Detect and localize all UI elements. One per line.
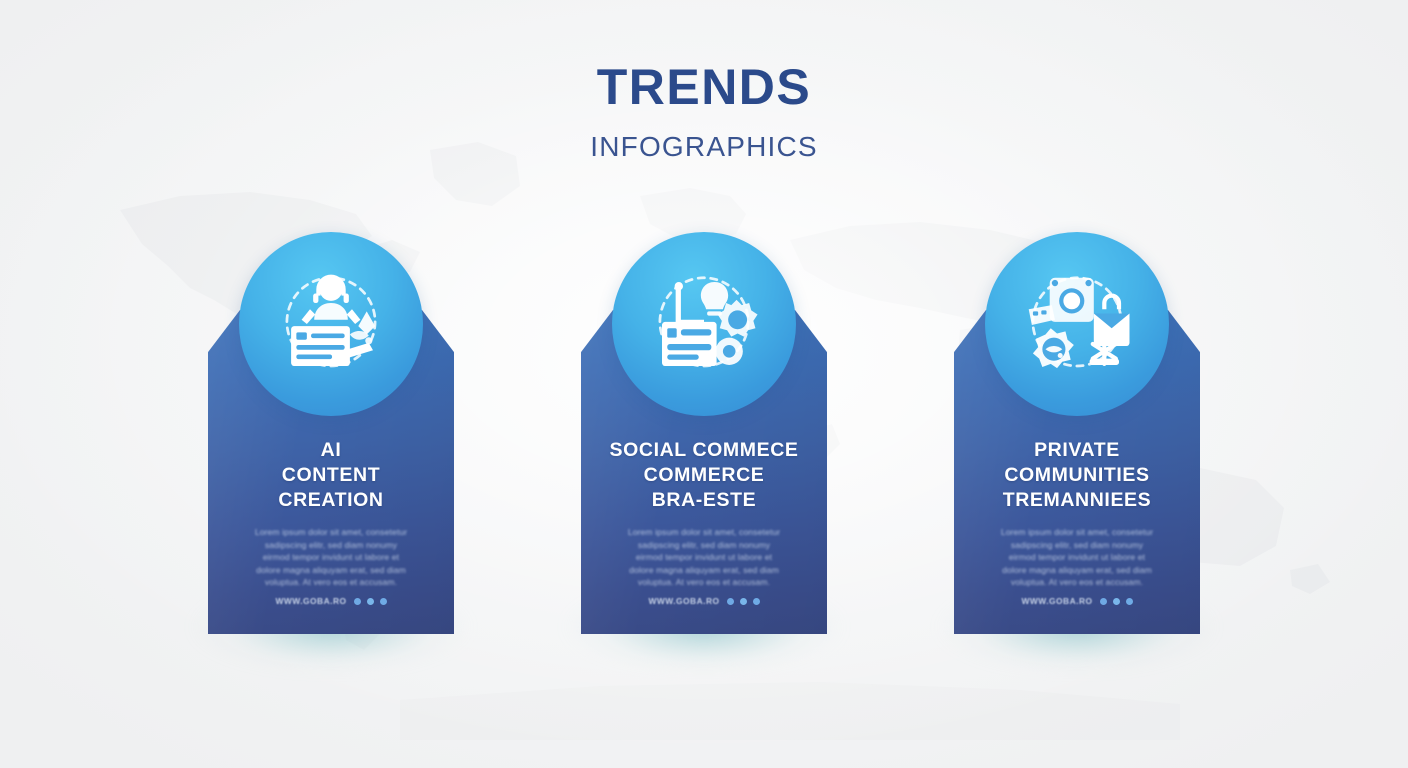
dot-indicator[interactable] — [380, 598, 387, 605]
dot-indicator[interactable] — [753, 598, 760, 605]
social-commerce-icon — [612, 232, 796, 416]
card-description: Lorem ipsum dolor sit amet, consetetur s… — [224, 526, 438, 589]
card-text: PRIVATE COMMUNITIES TREMANNIEES Lorem ip… — [954, 438, 1200, 589]
card-footer: WWW.GOBA.RO — [954, 596, 1200, 606]
trend-card-2[interactable]: SOCIAL COMMECE COMMERCE BRA-ESTE Lorem i… — [581, 232, 827, 672]
card-text: SOCIAL COMMECE COMMERCE BRA-ESTE Lorem i… — [581, 438, 827, 589]
card-title: PRIVATE COMMUNITIES TREMANNIEES — [970, 438, 1184, 513]
dot-indicator[interactable] — [1113, 598, 1120, 605]
card-description: Lorem ipsum dolor sit amet, consetetur s… — [970, 526, 1184, 589]
page-subtitle: INFOGRAPHICS — [0, 133, 1408, 161]
dot-indicator[interactable] — [727, 598, 734, 605]
footer-url[interactable]: WWW.GOBA.RO — [648, 596, 719, 606]
card-footer: WWW.GOBA.RO — [208, 596, 454, 606]
dot-indicator[interactable] — [367, 598, 374, 605]
dot-indicator[interactable] — [1100, 598, 1107, 605]
footer-url[interactable]: WWW.GOBA.RO — [275, 596, 346, 606]
card-footer: WWW.GOBA.RO — [581, 596, 827, 606]
dot-indicator[interactable] — [740, 598, 747, 605]
footer-url[interactable]: WWW.GOBA.RO — [1021, 596, 1092, 606]
dot-indicator[interactable] — [354, 598, 361, 605]
header: TRENDS INFOGRAPHICS — [0, 62, 1408, 161]
card-text: AI CONTENT CREATION Lorem ipsum dolor si… — [208, 438, 454, 589]
page-title: TRENDS — [0, 62, 1408, 112]
card-title: SOCIAL COMMECE COMMERCE BRA-ESTE — [597, 438, 811, 513]
footer-dots — [1100, 598, 1133, 605]
cards-row: AI CONTENT CREATION Lorem ipsum dolor si… — [0, 232, 1408, 672]
private-communities-icon — [985, 232, 1169, 416]
card-description: Lorem ipsum dolor sit amet, consetetur s… — [597, 526, 811, 589]
footer-dots — [727, 598, 760, 605]
ai-content-creation-icon — [239, 232, 423, 416]
footer-dots — [354, 598, 387, 605]
trend-card-3[interactable]: PRIVATE COMMUNITIES TREMANNIEES Lorem ip… — [954, 232, 1200, 672]
infographic-canvas: TRENDS INFOGRAPHICS — [0, 0, 1408, 768]
dot-indicator[interactable] — [1126, 598, 1133, 605]
trend-card-1[interactable]: AI CONTENT CREATION Lorem ipsum dolor si… — [208, 232, 454, 672]
card-title: AI CONTENT CREATION — [224, 438, 438, 513]
